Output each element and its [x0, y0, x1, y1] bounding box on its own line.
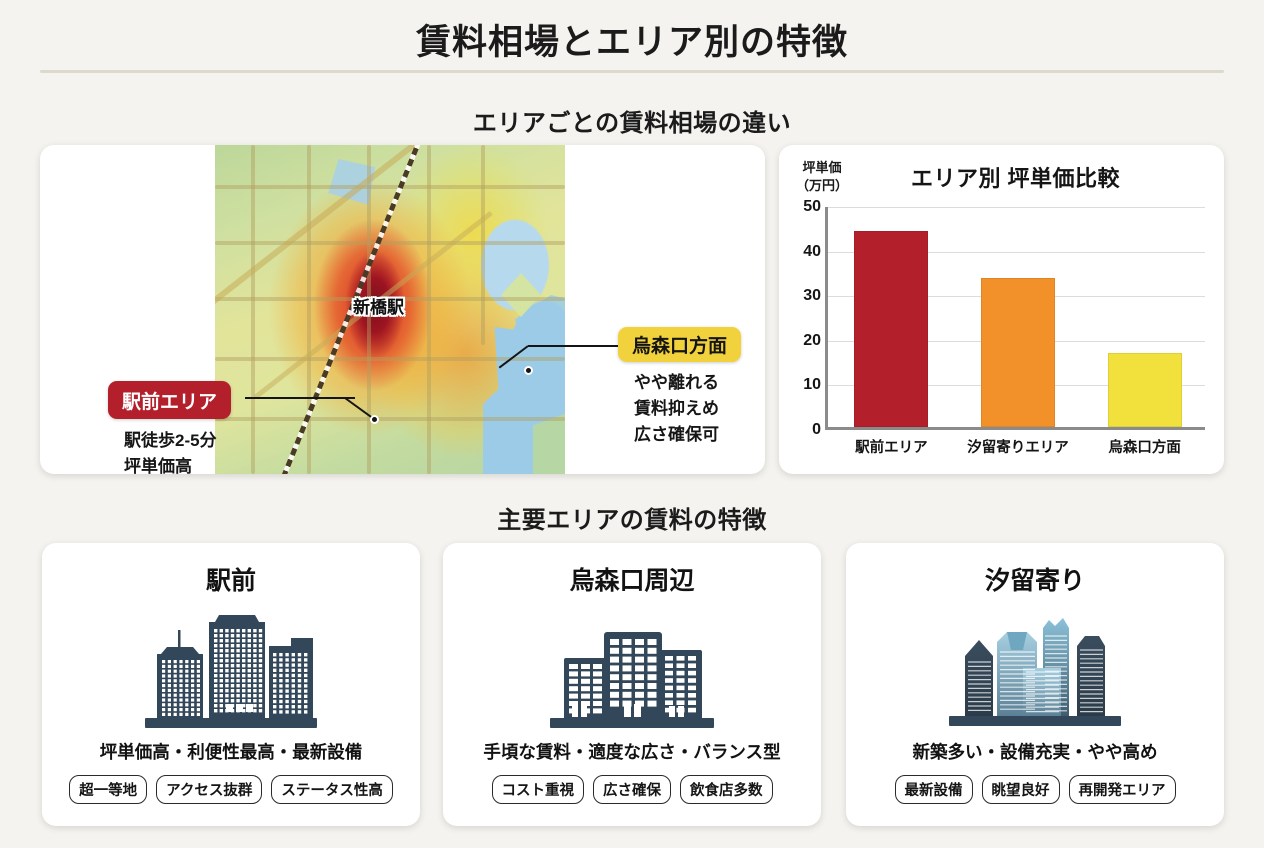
heatmap-image: 新橋駅: [215, 145, 565, 474]
y-axis-tick: 30: [803, 287, 821, 305]
card-tags: 超一等地 アクセス抜群 ステータス性高: [42, 775, 420, 804]
callout-line: 坪単価高: [124, 454, 217, 474]
callout-text-ekimae: 駅徒歩2-5分 坪単価高 利便性◎: [124, 428, 217, 474]
card-tag[interactable]: コスト重視: [492, 775, 585, 804]
y-axis-label-line2: （万円）: [789, 177, 855, 195]
card-tags: 最新設備 眺望良好 再開発エリア: [846, 775, 1224, 804]
callout-badge-ekimae[interactable]: 駅前エリア: [108, 381, 231, 419]
card-tag[interactable]: 超一等地: [69, 775, 147, 804]
card-tag[interactable]: ステータス性高: [271, 775, 393, 804]
card-title: 駅前: [42, 561, 420, 597]
callout-line: やや離れる: [634, 370, 719, 396]
x-axis-tick: 駅前エリア: [855, 436, 928, 457]
callout-line: 広さ確保可: [634, 422, 719, 448]
y-axis-tick: 40: [803, 243, 821, 261]
area-card-karasumoriguchi[interactable]: 烏森口周辺 手頃な賃料・適度な広さ・バランス型 コスト重視 広さ確保 飲食店多数: [443, 543, 821, 826]
y-axis-tick: 0: [812, 421, 821, 439]
card-tag[interactable]: 眺望良好: [982, 775, 1060, 804]
card-tag[interactable]: 最新設備: [895, 775, 973, 804]
bar-chart-panel: エリア別 坪単価比較 坪単価 （万円） 01020304050駅前エリア汐留寄り…: [779, 145, 1224, 474]
infographic-page: 賃料相場とエリア別の特徴 エリアごとの賃料相場の違い 新橋駅: [0, 0, 1264, 848]
page-title: 賃料相場とエリア別の特徴: [0, 14, 1264, 65]
y-axis-tick: 50: [803, 198, 821, 216]
callout-line: 駅徒歩2-5分: [124, 428, 217, 454]
card-title: 汐留寄り: [846, 561, 1224, 597]
office-buildings-dark-icon: [42, 601, 420, 731]
leader-line-karasu: [528, 345, 620, 347]
card-description: 坪単価高・利便性最高・最新設備: [42, 739, 420, 764]
card-title: 烏森口周辺: [443, 561, 821, 597]
station-label: 新橋駅: [353, 293, 404, 318]
map-marker-karasu: [524, 366, 533, 375]
x-axis-tick: 汐留寄りエリア: [967, 436, 1069, 457]
card-description: 手頃な賃料・適度な広さ・バランス型: [443, 739, 821, 764]
area-card-ekimae[interactable]: 駅前 坪単価高・利便性最高・最新設: [42, 543, 420, 826]
chart-gridline: [828, 207, 1205, 208]
chart-plot-area: 01020304050駅前エリア汐留寄りエリア烏森口方面: [825, 207, 1205, 430]
chart-bar[interactable]: [854, 231, 928, 427]
y-axis-label-line1: 坪単価: [789, 159, 855, 177]
y-axis-tick: 20: [803, 332, 821, 350]
y-axis-tick: 10: [803, 376, 821, 394]
y-axis-label: 坪単価 （万円）: [789, 159, 855, 195]
leader-line-ekimae: [245, 397, 355, 399]
x-axis-tick: 烏森口方面: [1108, 436, 1181, 457]
mid-rise-buildings-icon: [443, 601, 821, 731]
card-description: 新築多い・設備充実・やや高め: [846, 739, 1224, 764]
map-panel: 新橋駅 駅前エリア 駅徒歩2-5分 坪単価高 利便性◎ 烏森口方面 やや離れる …: [40, 145, 765, 474]
callout-badge-karasumoriguchi[interactable]: 烏森口方面: [618, 327, 741, 362]
callout-text-karasumoriguchi: やや離れる 賃料抑えめ 広さ確保可: [634, 370, 719, 448]
section-title-features: 主要エリアの賃料の特徴: [0, 500, 1264, 535]
chart-bar[interactable]: [981, 278, 1055, 427]
callout-line: 賃料抑えめ: [634, 396, 719, 422]
card-tag[interactable]: 広さ確保: [593, 775, 671, 804]
area-card-shiodome[interactable]: 汐留寄り: [846, 543, 1224, 826]
chart-bar[interactable]: [1108, 353, 1182, 427]
card-tag[interactable]: アクセス抜群: [156, 775, 262, 804]
map-marker-ekimae: [370, 415, 379, 424]
card-tags: コスト重視 広さ確保 飲食店多数: [443, 775, 821, 804]
card-tag[interactable]: 飲食店多数: [680, 775, 773, 804]
card-tag[interactable]: 再開発エリア: [1069, 775, 1176, 804]
skyscrapers-blue-icon: [846, 601, 1224, 731]
title-divider: [40, 70, 1224, 73]
section-title-areas: エリアごとの賃料相場の違い: [0, 103, 1264, 138]
